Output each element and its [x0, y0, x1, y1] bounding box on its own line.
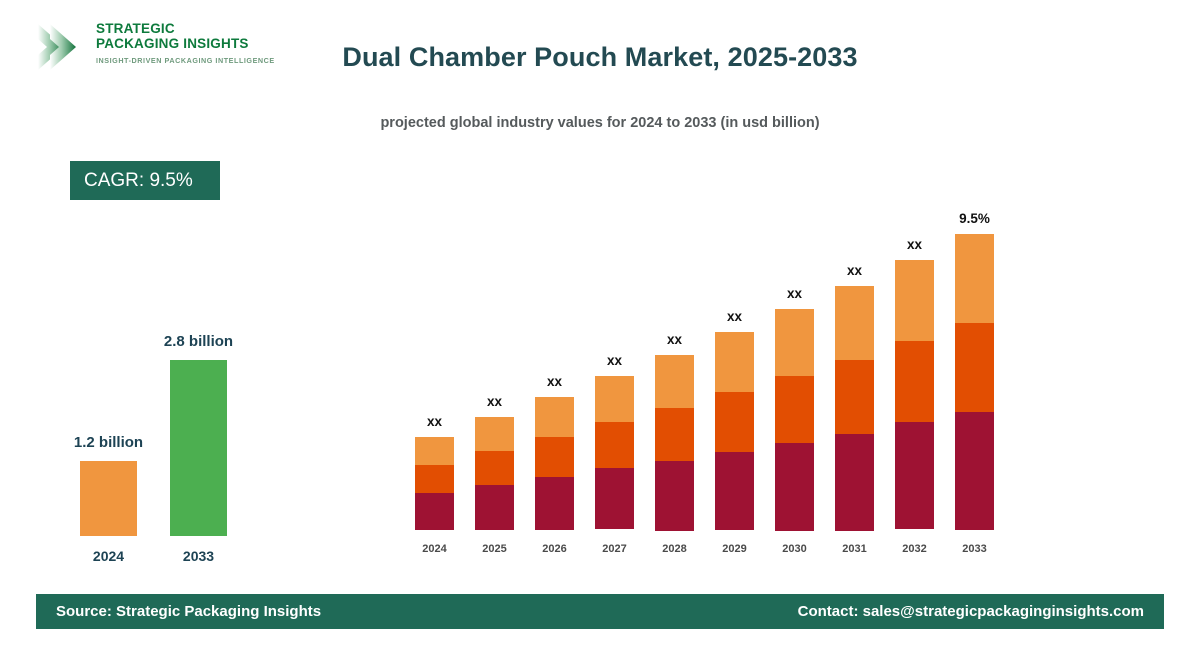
forecast-bar-segment-segment-2 — [895, 341, 934, 422]
footer-source: Source: Strategic Packaging Insights — [56, 603, 321, 620]
comparison-bar-rect — [170, 360, 227, 536]
forecast-bar-segment-segment-1 — [595, 468, 634, 529]
forecast-bar-top-label: 9.5% — [933, 211, 1016, 226]
comparison-bar-value-label: 2.8 billion — [142, 333, 255, 350]
forecast-bar-segment-segment-2 — [835, 360, 874, 434]
forecast-bar-segment-segment-2 — [715, 392, 754, 452]
forecast-bar-segment-segment-1 — [535, 477, 574, 530]
forecast-bar-segment-segment-2 — [775, 376, 814, 443]
forecast-bar-x-label: 2033 — [933, 543, 1016, 555]
forecast-bar-segment-segment-1 — [655, 461, 694, 531]
forecast-bar-2032: xx2032 — [895, 260, 934, 530]
forecast-bar-2028: xx2028 — [655, 355, 694, 530]
forecast-bar-segment-segment-3 — [595, 376, 634, 422]
forecast-bar-segment-segment-1 — [835, 434, 874, 531]
forecast-bar-2030: xx2030 — [775, 309, 814, 530]
comparison-bar-2033: 2.8 billion2033 — [170, 360, 227, 536]
forecast-bar-top-label: xx — [753, 286, 836, 301]
forecast-bar-segment-segment-1 — [775, 443, 814, 531]
forecast-bar-top-label: xx — [453, 394, 536, 409]
cagr-badge: CAGR: 9.5% — [70, 161, 220, 200]
comparison-bar-x-label: 2033 — [142, 548, 255, 564]
comparison-bar-chart: 1.2 billion20242.8 billion2033 — [55, 310, 275, 570]
cagr-badge-label: CAGR: 9.5% — [84, 170, 193, 192]
brand-logo-line1: STRATEGIC — [96, 21, 275, 36]
comparison-bar-value-label: 1.2 billion — [52, 434, 165, 451]
forecast-bar-segment-segment-2 — [655, 408, 694, 461]
forecast-bar-segment-segment-3 — [475, 417, 514, 451]
forecast-bar-2031: xx2031 — [835, 286, 874, 530]
forecast-bar-segment-segment-1 — [475, 485, 514, 530]
forecast-bar-segment-segment-3 — [535, 397, 574, 437]
forecast-bar-top-label: xx — [873, 237, 956, 252]
forecast-bar-segment-segment-1 — [415, 493, 454, 530]
page-subtitle: projected global industry values for 202… — [0, 115, 1200, 131]
forecast-bar-2025: xx2025 — [475, 417, 514, 530]
forecast-bar-top-label: xx — [393, 414, 476, 429]
chart-page: STRATEGIC PACKAGING INSIGHTS INSIGHT-DRI… — [0, 0, 1200, 650]
forecast-bar-2033: 9.5%2033 — [955, 234, 994, 530]
forecast-bar-top-label: xx — [813, 263, 896, 278]
forecast-bar-2026: xx2026 — [535, 397, 574, 530]
footer-contact: Contact: sales@strategicpackaginginsight… — [798, 603, 1144, 620]
forecast-bar-segment-segment-3 — [715, 332, 754, 392]
forecast-bar-top-label: xx — [633, 332, 716, 347]
footer-bar: Source: Strategic Packaging Insights Con… — [36, 594, 1164, 629]
forecast-bar-segment-segment-3 — [775, 309, 814, 376]
forecast-bar-segment-segment-1 — [955, 412, 994, 530]
forecast-bar-segment-segment-1 — [715, 452, 754, 530]
page-title: Dual Chamber Pouch Market, 2025-2033 — [0, 42, 1200, 73]
forecast-bar-top-label: xx — [573, 353, 656, 368]
forecast-bar-segment-segment-2 — [955, 323, 994, 412]
forecast-bar-segment-segment-2 — [475, 451, 514, 485]
forecast-bar-segment-segment-3 — [955, 234, 994, 323]
forecast-bar-segment-segment-1 — [895, 422, 934, 529]
comparison-bar-rect — [80, 461, 137, 536]
forecast-bar-segment-segment-2 — [415, 465, 454, 493]
forecast-bar-2029: xx2029 — [715, 332, 754, 530]
forecast-bar-segment-segment-3 — [415, 437, 454, 465]
forecast-bar-top-label: xx — [693, 309, 776, 324]
forecast-bar-2024: xx2024 — [415, 437, 454, 530]
forecast-bar-top-label: xx — [513, 374, 596, 389]
forecast-bar-segment-segment-3 — [835, 286, 874, 360]
forecast-stacked-bar-chart: xx2024xx2025xx2026xx2027xx2028xx2029xx20… — [405, 190, 1025, 565]
forecast-bar-segment-segment-3 — [655, 355, 694, 408]
forecast-bar-2027: xx2027 — [595, 376, 634, 530]
forecast-bar-segment-segment-3 — [895, 260, 934, 341]
forecast-bar-segment-segment-2 — [535, 437, 574, 477]
comparison-bar-2024: 1.2 billion2024 — [80, 461, 137, 536]
forecast-bar-segment-segment-2 — [595, 422, 634, 468]
